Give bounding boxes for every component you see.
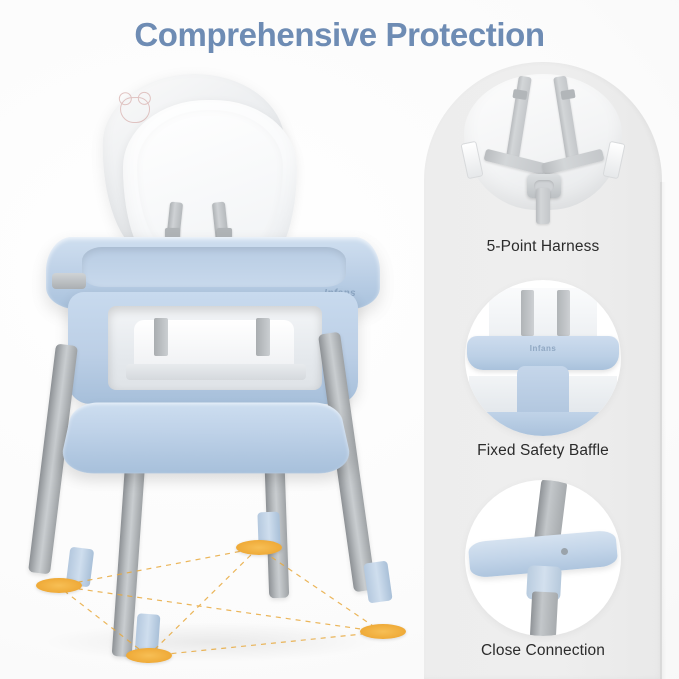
harness-illustration xyxy=(424,70,662,238)
main-product-image: Infans xyxy=(18,62,418,662)
feature-caption-connection: Close Connection xyxy=(424,642,662,660)
foot-pad-back-right xyxy=(236,540,282,555)
chair-footrest-platform xyxy=(58,403,354,474)
baffle-strap-left xyxy=(521,290,534,336)
seat-strap-right xyxy=(256,318,270,356)
tray-latch xyxy=(52,273,86,289)
tray-well xyxy=(82,247,346,287)
feature-card-baffle: Infans Fixed Safety Baffle xyxy=(424,274,662,460)
foot-pad-back-left xyxy=(126,648,172,663)
chair-seat-body xyxy=(68,292,358,404)
connection-leg-lower xyxy=(530,591,558,636)
ground-shadow xyxy=(42,622,382,662)
baffle-illustration: Infans xyxy=(465,280,621,436)
feature-card-connection: Close Connection xyxy=(424,474,662,660)
feature-panel: 5-Point Harness Infans Fixed Safety Baff… xyxy=(424,62,662,679)
baffle-base xyxy=(465,412,621,436)
foot-pad-front-right xyxy=(360,624,406,639)
connection-screw-icon xyxy=(561,548,568,555)
baffle-front-bar xyxy=(467,336,619,370)
feature-caption-harness: 5-Point Harness xyxy=(424,238,662,256)
bear-pattern-icon xyxy=(120,97,150,124)
seat-strap-left xyxy=(154,318,168,356)
product-infographic: Comprehensive Protection Infans xyxy=(0,0,679,679)
harness-crotch-strap xyxy=(536,188,550,224)
seat-lower-bar xyxy=(126,364,306,380)
foot-pad-front-left xyxy=(36,578,82,593)
cushion-inner-panel xyxy=(137,110,283,250)
seat-opening xyxy=(108,306,322,390)
feature-image-connection xyxy=(424,474,662,642)
feature-image-harness xyxy=(424,70,662,238)
baffle-crotch-post xyxy=(517,366,569,414)
baffle-strap-right xyxy=(557,290,570,336)
baffle-brand-label: Infans xyxy=(465,344,621,353)
feature-image-baffle: Infans xyxy=(424,274,662,442)
page-title: Comprehensive Protection xyxy=(0,16,679,54)
connection-illustration xyxy=(465,480,621,636)
leg-cap-front-right xyxy=(363,561,392,604)
feature-caption-baffle: Fixed Safety Baffle xyxy=(424,442,662,460)
feature-card-harness: 5-Point Harness xyxy=(424,70,662,256)
